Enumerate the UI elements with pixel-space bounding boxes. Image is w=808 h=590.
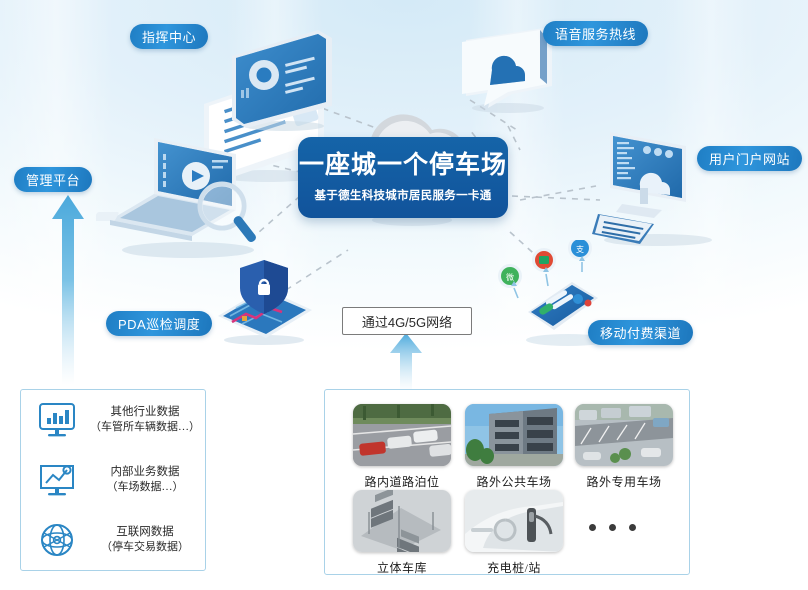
svg-text:微: 微	[506, 272, 514, 282]
scene-card: 立体车库	[353, 490, 451, 576]
label-user-portal: 用户门户网站	[697, 146, 802, 171]
data-source-detail: （停车交易数据）	[85, 540, 205, 555]
scene-card: 路外专用车场	[575, 404, 673, 490]
scene-card: 充电桩/站	[465, 490, 563, 576]
user-portal-desktop	[592, 126, 724, 246]
svg-text:支: 支	[576, 244, 584, 254]
data-source-row: 内部业务数据 （车场数据…）	[21, 450, 205, 510]
network-box-label: 通过4G/5G网络	[362, 312, 452, 331]
laptop-device	[96, 132, 272, 258]
public-offstreet-lot-photo	[465, 404, 563, 466]
scene-caption: 路外公共车场	[465, 473, 563, 490]
scene-card: 路内道路泊位	[353, 404, 451, 490]
monitor-line-icon	[33, 458, 81, 502]
center-title: 一座城一个停车场	[299, 153, 507, 178]
scene-card: 路外公共车场	[465, 404, 563, 490]
center-title-box: 一座城一个停车场 基于德生科技城市居民服务一卡通	[298, 137, 508, 218]
data-sources-panel: 其他行业数据 （车管所车辆数据…） 内部业务数据 （车场数据…）	[20, 389, 206, 571]
infographic-canvas: 指挥中心	[0, 0, 808, 590]
network-box: 通过4G/5G网络	[342, 307, 472, 335]
monitor-chart-icon	[33, 398, 81, 442]
label-mobile-payment: 移动付费渠道	[588, 320, 693, 345]
globe-network-icon	[33, 518, 81, 562]
on-street-parking-photo	[353, 404, 451, 466]
data-source-row: 其他行业数据 （车管所车辆数据…）	[21, 390, 205, 450]
label-management-platform: 管理平台	[14, 167, 92, 192]
data-source-detail: （车场数据…）	[85, 480, 205, 495]
data-source-title: 内部业务数据	[85, 465, 205, 481]
parking-scenes-panel: 路内道路泊位	[324, 389, 690, 575]
private-offstreet-lot-photo	[575, 404, 673, 466]
center-subtitle: 基于德生科技城市居民服务一卡通	[315, 187, 492, 203]
ev-charging-photo	[465, 490, 563, 552]
mechanical-garage-photo	[353, 490, 451, 552]
label-voice-hotline: 语音服务热线	[543, 21, 648, 46]
data-source-title: 其他行业数据	[85, 405, 205, 421]
data-source-detail: （车管所车辆数据…）	[85, 420, 205, 435]
data-source-row: 互联网数据 （停车交易数据）	[21, 510, 205, 570]
data-source-title: 互联网数据	[85, 525, 205, 541]
command-center-display	[222, 28, 332, 126]
scene-caption: 立体车库	[353, 559, 451, 576]
scene-caption: 路内道路泊位	[353, 473, 451, 490]
scene-caption: 路外专用车场	[575, 473, 673, 490]
scene-caption: 充电桩/站	[465, 559, 563, 576]
pda-tablet-device	[212, 258, 316, 344]
label-command-center: 指挥中心	[130, 24, 208, 49]
label-pda-inspection: PDA巡检调度	[106, 311, 212, 336]
more-scenes-indicator	[589, 524, 636, 531]
